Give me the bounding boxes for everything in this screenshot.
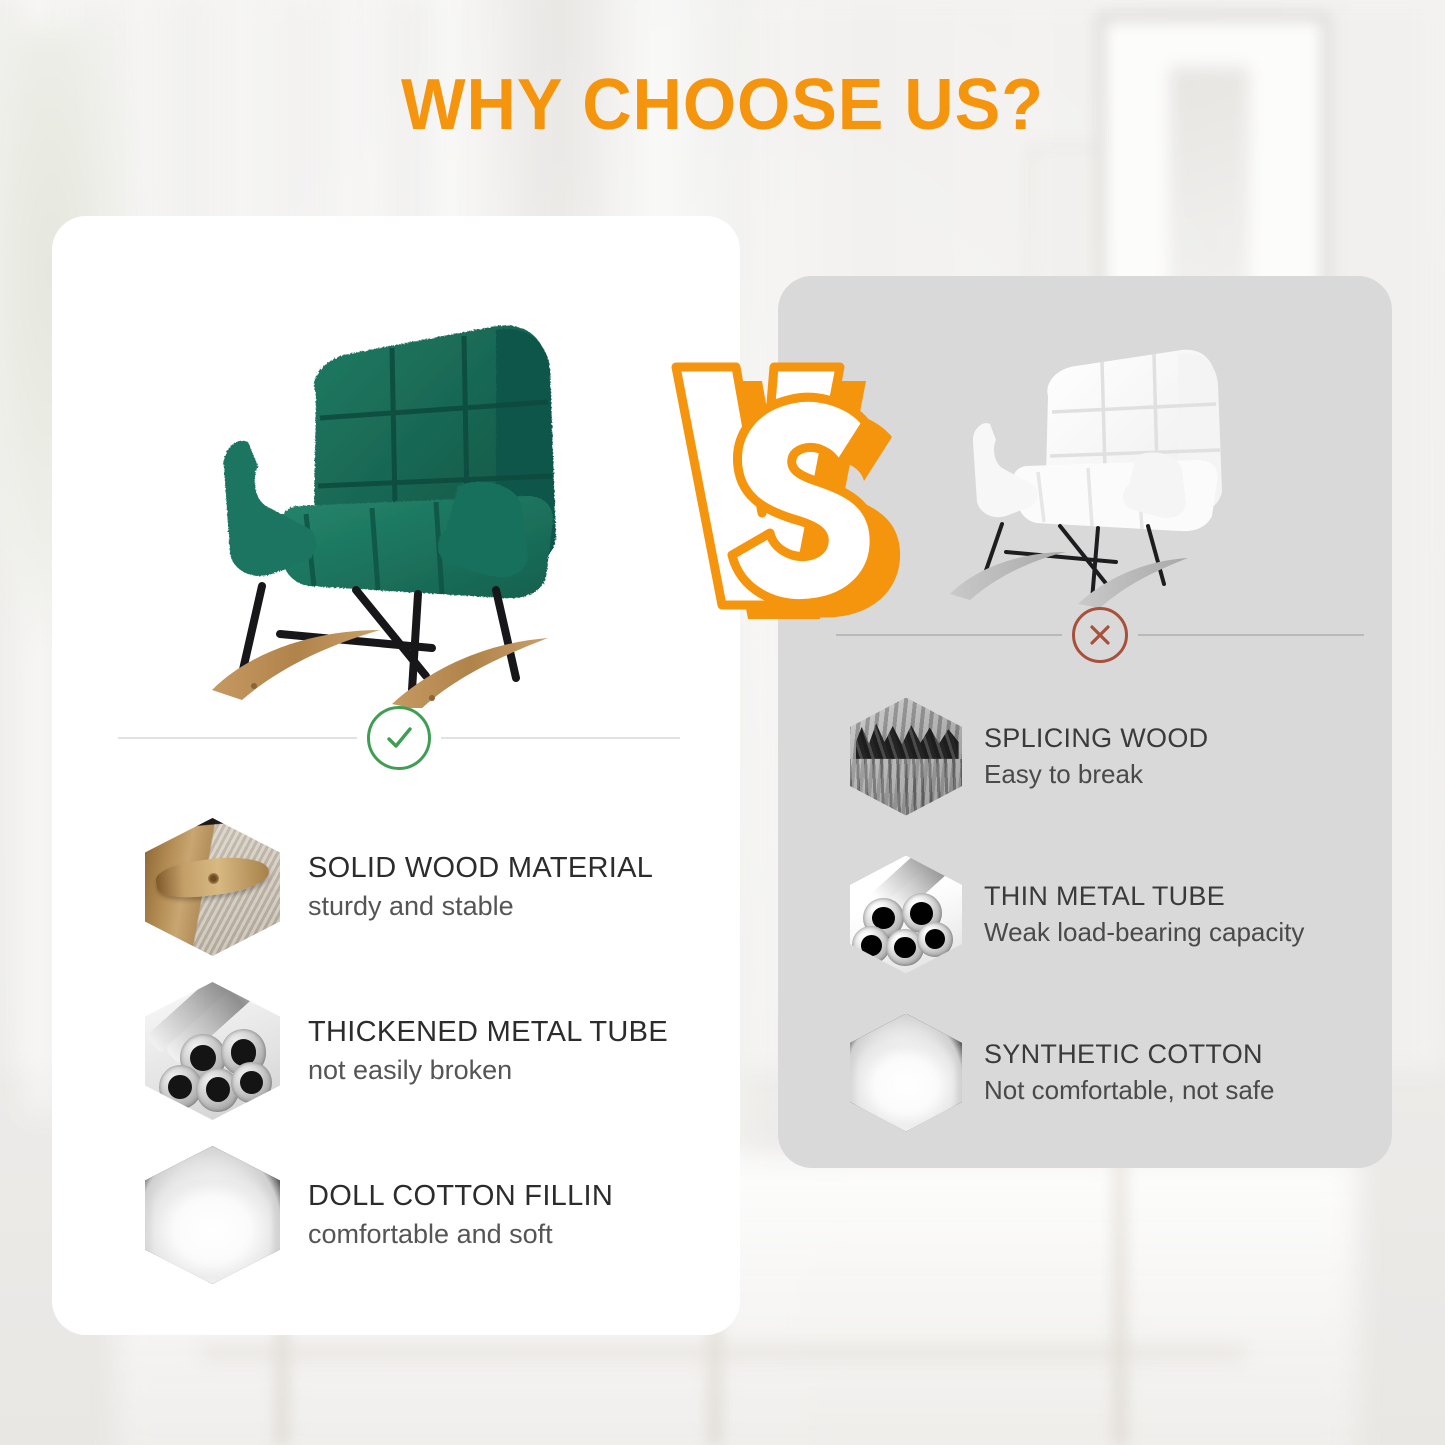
tube-circle — [159, 1065, 202, 1109]
feature-subtitle: Weak load-bearing capacity — [984, 917, 1304, 948]
thin-metal-tube-hexagon-icon — [850, 856, 962, 974]
solid-wood-hexagon-icon — [145, 818, 280, 956]
feature-subtitle: not easily broken — [308, 1054, 668, 1086]
feature-subtitle: Not comfortable, not safe — [984, 1075, 1274, 1106]
x-circle-icon — [1072, 607, 1128, 663]
feature-text: SPLICING WOOD Easy to break — [984, 723, 1208, 790]
competitor-feature-list: SPLICING WOOD Easy to break THIN METAL T… — [850, 694, 1370, 1168]
feature-item: THICKENED METAL TUBE not easily broken — [145, 982, 705, 1120]
synthetic-cotton-hexagon-icon — [850, 1014, 962, 1132]
green-rocking-chair-image — [196, 238, 626, 708]
tube-circle — [917, 922, 953, 957]
doll-cotton-hexagon-icon — [145, 1146, 280, 1284]
tube-circle — [231, 1062, 272, 1103]
feature-item: DOLL COTTON FILLIN comfortable and soft — [145, 1146, 705, 1284]
vs-badge — [604, 305, 904, 635]
feature-title: SPLICING WOOD — [984, 723, 1208, 754]
page-title: WHY CHOOSE US? — [36, 64, 1409, 146]
feature-title: THICKENED METAL TUBE — [308, 1016, 668, 1050]
left-verdict-divider — [118, 706, 680, 770]
metal-tube-hexagon-icon — [145, 982, 280, 1120]
feature-text: THIN METAL TUBE Weak load-bearing capaci… — [984, 881, 1304, 948]
feature-title: THIN METAL TUBE — [984, 881, 1304, 912]
white-rocking-chair-image — [940, 300, 1270, 620]
our-product-feature-list: SOLID WOOD MATERIAL sturdy and stable TH… — [145, 818, 705, 1310]
feature-item: SPLICING WOOD Easy to break — [850, 694, 1370, 819]
tube-circle — [852, 926, 890, 964]
feature-title: SOLID WOOD MATERIAL — [308, 852, 653, 886]
feature-text: SYNTHETIC COTTON Not comfortable, not sa… — [984, 1039, 1274, 1106]
feature-item: THIN METAL TUBE Weak load-bearing capaci… — [850, 852, 1370, 977]
feature-item: SOLID WOOD MATERIAL sturdy and stable — [145, 818, 705, 956]
right-verdict-divider — [836, 607, 1364, 663]
divider-line-right — [1138, 634, 1364, 636]
feature-text: THICKENED METAL TUBE not easily broken — [308, 1016, 668, 1086]
feature-text: SOLID WOOD MATERIAL sturdy and stable — [308, 852, 653, 922]
feature-title: DOLL COTTON FILLIN — [308, 1180, 613, 1214]
check-circle-icon — [367, 706, 431, 770]
splicing-wood-hexagon-icon — [850, 698, 962, 816]
feature-item: SYNTHETIC COTTON Not comfortable, not sa… — [850, 1010, 1370, 1135]
feature-subtitle: sturdy and stable — [308, 890, 653, 922]
feature-text: DOLL COTTON FILLIN comfortable and soft — [308, 1180, 613, 1250]
feature-subtitle: Easy to break — [984, 759, 1208, 790]
divider-line-right — [441, 737, 680, 739]
feature-title: SYNTHETIC COTTON — [984, 1039, 1274, 1070]
feature-subtitle: comfortable and soft — [308, 1218, 613, 1250]
divider-line-left — [118, 737, 357, 739]
